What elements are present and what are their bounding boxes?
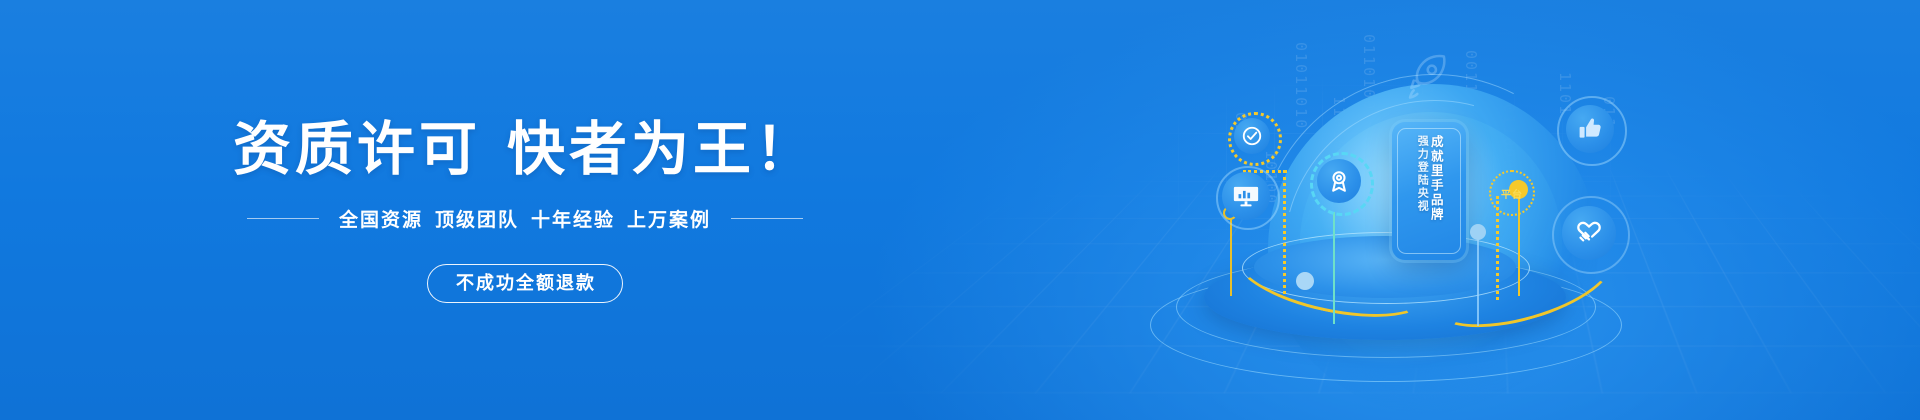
banner-copy: 资质许可快者为王！ 全国资源顶级团队十年经验上万案例 不成功全额退款	[0, 0, 1050, 420]
tablet-line-primary: 成就里手品牌	[1429, 135, 1442, 222]
pin-head-light-lower	[1296, 272, 1314, 290]
pin-stem-yellow-left	[1230, 218, 1232, 296]
subtitle-row: 全国资源顶级团队十年经验上万案例	[247, 205, 803, 232]
binary-text: 01011010	[1292, 42, 1310, 130]
monitor-chart-icon[interactable]	[1222, 172, 1270, 220]
rocket-icon	[1398, 48, 1456, 111]
divider-line-left	[247, 218, 319, 219]
check-circle-icon[interactable]	[1234, 118, 1270, 154]
award-medal-icon[interactable]	[1317, 159, 1361, 203]
subtitle: 全国资源顶级团队十年经验上万案例	[339, 205, 711, 232]
promo-banner: 01011010 1101001 0110100 11010011 0011 0…	[0, 0, 1920, 420]
subtitle-part: 顶级团队	[435, 210, 519, 231]
platform-tag-label: 平台	[1501, 186, 1523, 201]
dotted-connector-vertical-left	[1283, 170, 1286, 294]
headline-part-right: 快者为王！	[507, 117, 817, 182]
handshake-icon[interactable]	[1562, 206, 1616, 260]
platform-tag: 平台	[1489, 170, 1535, 216]
pin-stem-teal	[1333, 212, 1335, 324]
tablet-line-secondary: 强力登陆央视	[1416, 135, 1427, 213]
page-title: 资质许可快者为王！	[233, 121, 817, 179]
platform-dais	[1150, 232, 1620, 382]
pin-head-light	[1470, 224, 1486, 240]
divider-line-right	[731, 218, 803, 219]
subtitle-part: 十年经验	[531, 210, 615, 231]
subtitle-part: 全国资源	[339, 210, 423, 231]
pin-stem-light	[1477, 236, 1479, 326]
tablet-card: 成就里手品牌 强力登陆央视	[1392, 122, 1466, 260]
subtitle-part: 上万案例	[627, 210, 711, 231]
refund-guarantee-button[interactable]: 不成功全额退款	[427, 264, 623, 303]
headline-part-left: 资质许可	[233, 117, 481, 182]
thumbs-up-icon[interactable]	[1566, 105, 1614, 153]
